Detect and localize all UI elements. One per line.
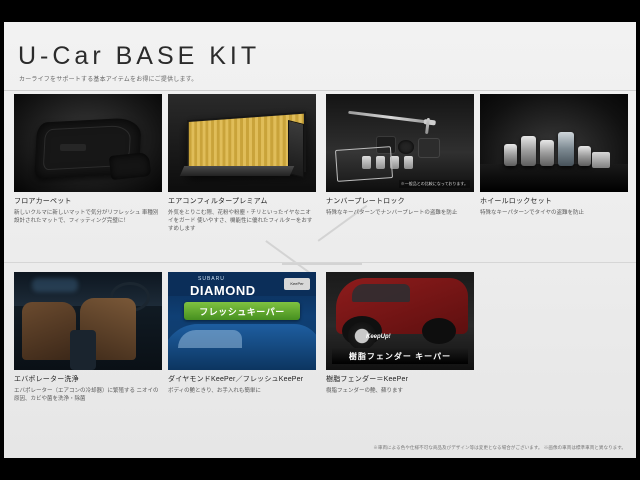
item-card-evaporator-cleaning[interactable]: エバポレーター洗浄 エバポレーター（エアコンの冷却器）に繁殖する ニオイの原因、… (14, 272, 162, 403)
item-thumbnail-diamond-keeper: SUBARU DIAMOND KeePer フレッシュキーパー (168, 272, 316, 370)
brand-main-label: DIAMOND (190, 283, 256, 298)
item-description: 新しいクルマに新しいマットで気分がリフレッシュ 車種別設計されたマットで、フィッ… (14, 209, 162, 225)
header: U-Car BASE KIT カーライフをサポートする基本アイテムをお得にご提供… (4, 22, 636, 92)
item-title: エバポレーター洗浄 (14, 375, 162, 384)
item-title: ナンバープレートロック (326, 197, 474, 206)
item-thumbnail-resin-fender-keeper: KeepUp! 樹脂フェンダー キーパー (326, 272, 474, 370)
item-thumbnail-number-plate-lock: ※一般品との比較になっております。 (326, 94, 474, 192)
keeper-badge: KeePer (284, 278, 310, 290)
item-thumbnail-floor-mat (14, 94, 162, 192)
item-thumbnail-air-filter (168, 94, 316, 192)
item-description: エバポレーター（エアコンの冷却器）に繁殖する ニオイの原因、カビや菌を洗浄・除菌 (14, 387, 162, 403)
item-thumbnail-evaporator-cleaning (14, 272, 162, 370)
page-subtitle: カーライフをサポートする基本アイテムをお得にご提供します。 (19, 74, 197, 83)
item-description: 特殊なキーパターンでタイヤの盗難を防止 (480, 209, 628, 217)
item-description: 特殊なキーパターンでナンバープレートの盗難を防止 (326, 209, 474, 217)
items-grid: フロアカーペット 新しいクルマに新しいマットで気分がリフレッシュ 車種別設計され… (4, 94, 636, 440)
callout-box (335, 146, 393, 182)
fender-band: 樹脂フェンダー キーパー (332, 348, 468, 364)
footnote: ※車両による色や仕様不可な商品及びデザイン等は変更となる場合がございます。 ※画… (373, 445, 626, 451)
item-description: 樹脂フェンダーの艶、蘇ります (326, 387, 474, 395)
keeper-band: フレッシュキーパー (184, 302, 300, 320)
item-card-number-plate-lock[interactable]: ※一般品との比較になっております。 ナンバープレートロック 特殊なキーパターンで… (326, 94, 474, 217)
item-card-floor-mat[interactable]: フロアカーペット 新しいクルマに新しいマットで気分がリフレッシュ 車種別設計され… (14, 94, 162, 225)
item-description: 外気をとりこむ際、花粉や粉塵・チリといったイヤなニオイをガード 使いやすさ、機能… (168, 209, 316, 233)
item-card-diamond-keeper[interactable]: SUBARU DIAMOND KeePer フレッシュキーパー ダイヤモンドKe… (168, 272, 316, 395)
keepup-label: KeepUp! (366, 334, 391, 340)
items-row-1: フロアカーペット 新しいクルマに新しいマットで気分がリフレッシュ 車種別設計され… (4, 94, 636, 262)
header-divider (4, 90, 636, 91)
item-title: 樹脂フェンダー＝KeePer (326, 375, 474, 384)
brand-sub-label: SUBARU (198, 276, 225, 282)
item-title: ダイヤモンドKeePer／フレッシュKeePer (168, 375, 316, 384)
item-title: エアコンフィルタープレミアム (168, 197, 316, 206)
item-thumbnail-wheel-lock (480, 94, 628, 192)
fender-band-label: 樹脂フェンダー キーパー (349, 351, 451, 362)
item-title: フロアカーペット (14, 197, 162, 206)
items-row-2: エバポレーター洗浄 エバポレーター（エアコンの冷却器）に繁殖する ニオイの原因、… (4, 272, 636, 440)
item-card-wheel-lock[interactable]: ホイールロックセット 特殊なキーパターンでタイヤの盗難を防止 (480, 94, 628, 217)
row-divider (4, 262, 636, 263)
keeper-band-label: フレッシュキーパー (199, 305, 284, 318)
slide-page: U-Car BASE KIT カーライフをサポートする基本アイテムをお得にご提供… (0, 0, 640, 480)
item-title: ホイールロックセット (480, 197, 628, 206)
item-description: ボディの艶ときり、お手入れも簡単に (168, 387, 316, 395)
slide-sheet: U-Car BASE KIT カーライフをサポートする基本アイテムをお得にご提供… (4, 22, 636, 458)
page-title: U-Car BASE KIT (18, 42, 260, 71)
item-card-air-filter[interactable]: エアコンフィルタープレミアム 外気をとりこむ際、花粉や粉塵・チリといったイヤなニ… (168, 94, 316, 233)
thumbnail-note: ※一般品との比較になっております。 (399, 180, 470, 188)
item-card-resin-fender-keeper[interactable]: KeepUp! 樹脂フェンダー キーパー 樹脂フェンダー＝KeePer 樹脂フェ… (326, 272, 474, 395)
